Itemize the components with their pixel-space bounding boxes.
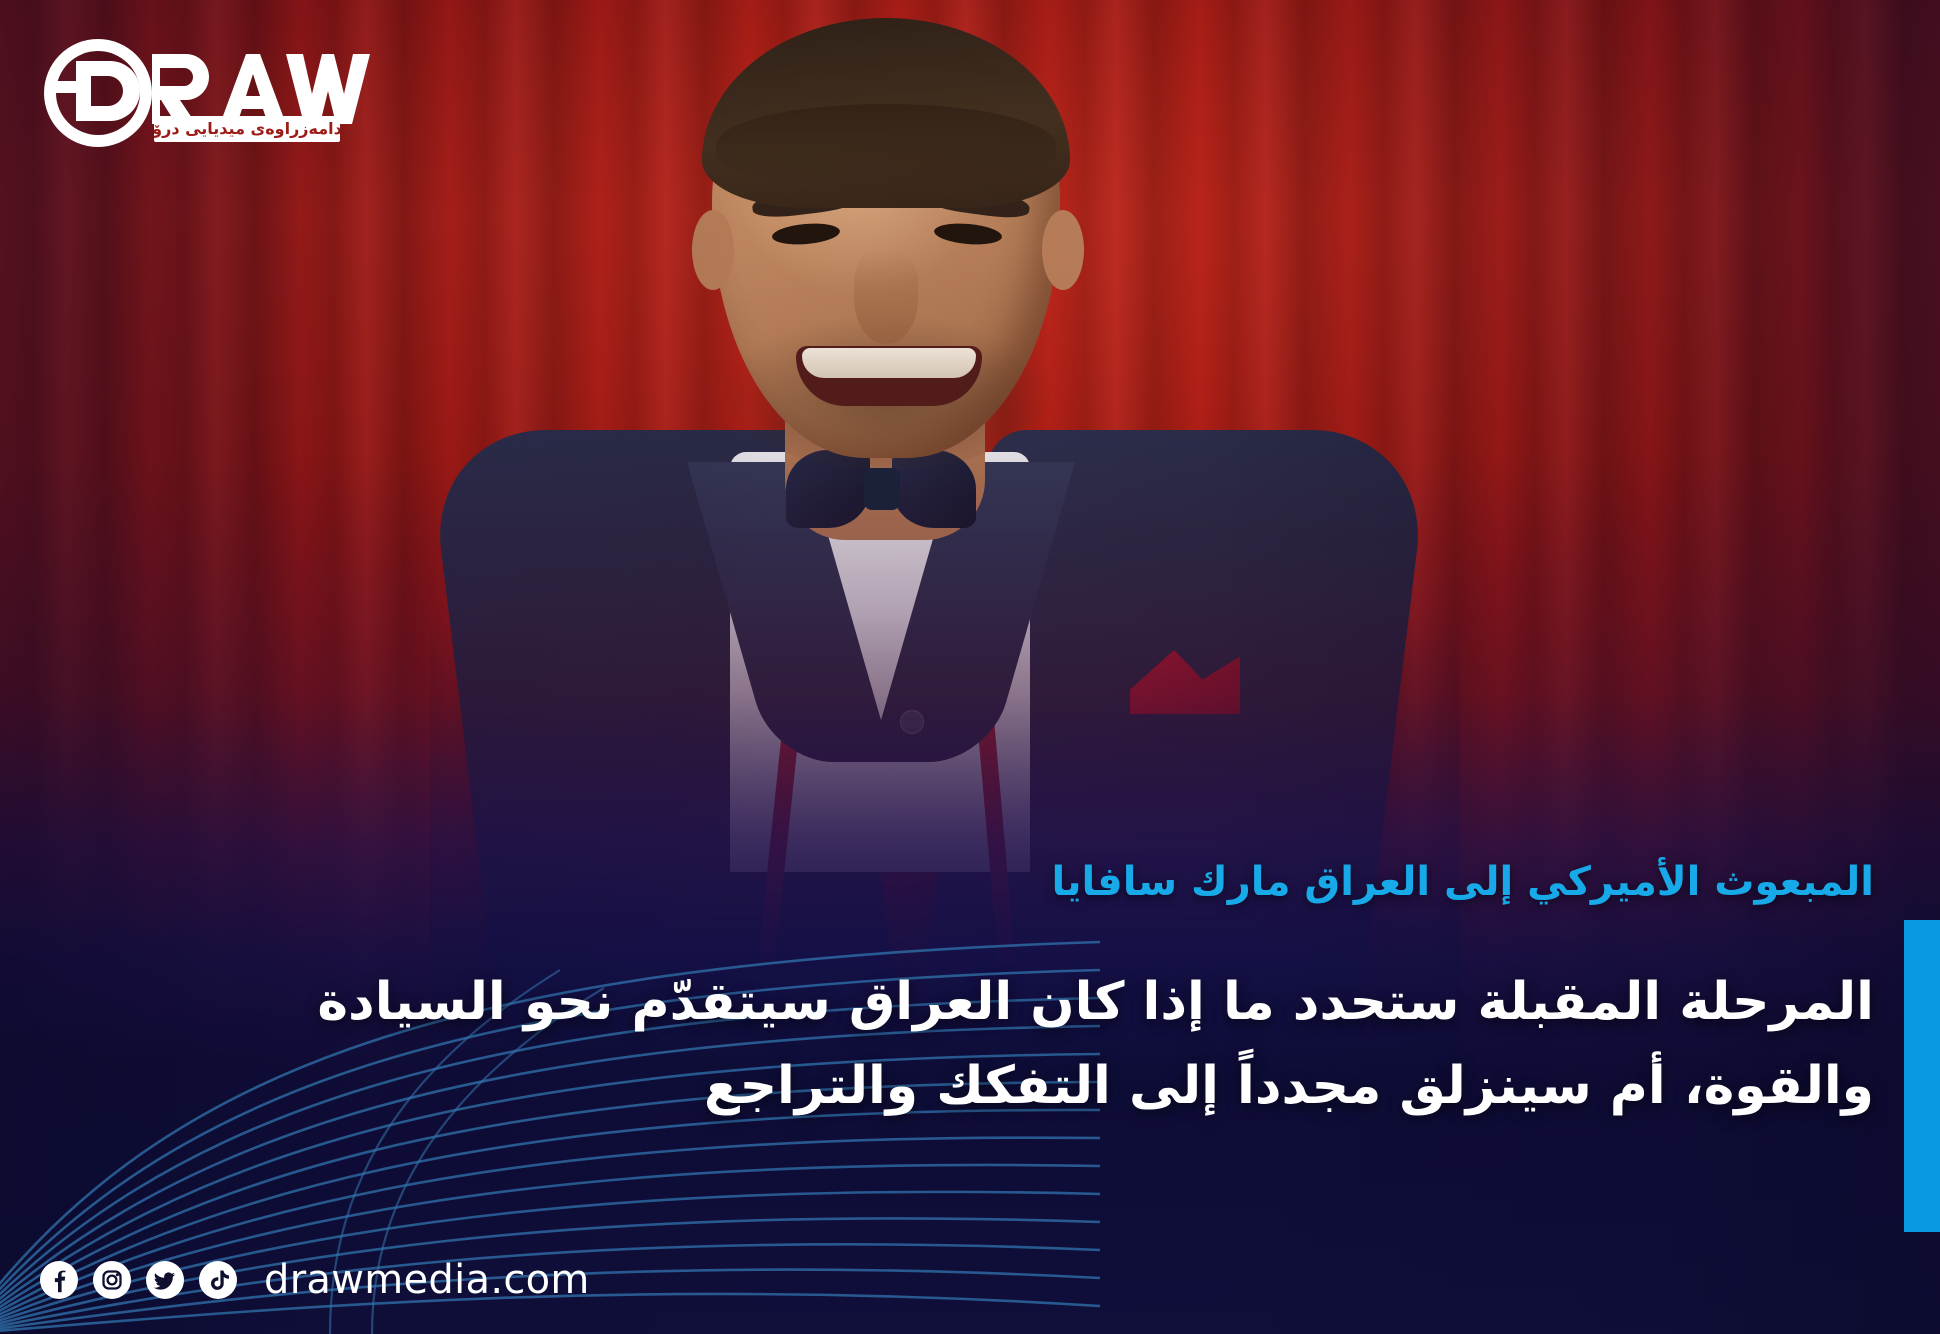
headline-line-1: المرحلة المقبلة ستحدد ما إذا كان العراق … <box>64 960 1874 1044</box>
kicker-text: المبعوث الأميركي إلى العراق مارك سافايا <box>374 858 1874 906</box>
tiktok-icon[interactable] <box>199 1261 237 1299</box>
draw-media-logo[interactable]: دامەزراوەی میدیایی درۆ <box>42 34 372 152</box>
news-card: دامەزراوەی میدیایی درۆ المبعوث الأميركي … <box>0 0 1940 1334</box>
logo-subtitle-text: دامەزراوەی میدیایی درۆ <box>154 121 340 137</box>
facebook-icon[interactable] <box>40 1261 78 1299</box>
side-vignette <box>0 0 1940 1334</box>
twitter-icon[interactable] <box>146 1261 184 1299</box>
right-accent-bar <box>1904 920 1940 1232</box>
logo-subtitle-plate: دامەزراوەی میدیایی درۆ <box>154 116 340 142</box>
website-url[interactable]: drawmedia.com <box>264 1260 590 1300</box>
headline: المرحلة المقبلة ستحدد ما إذا كان العراق … <box>64 960 1874 1128</box>
footer: drawmedia.com <box>40 1260 590 1300</box>
headline-line-2: والقوة، أم سينزلق مجدداً إلى التفكك والت… <box>64 1044 1874 1128</box>
draw-d-circle-icon <box>42 37 154 149</box>
instagram-icon[interactable] <box>93 1261 131 1299</box>
